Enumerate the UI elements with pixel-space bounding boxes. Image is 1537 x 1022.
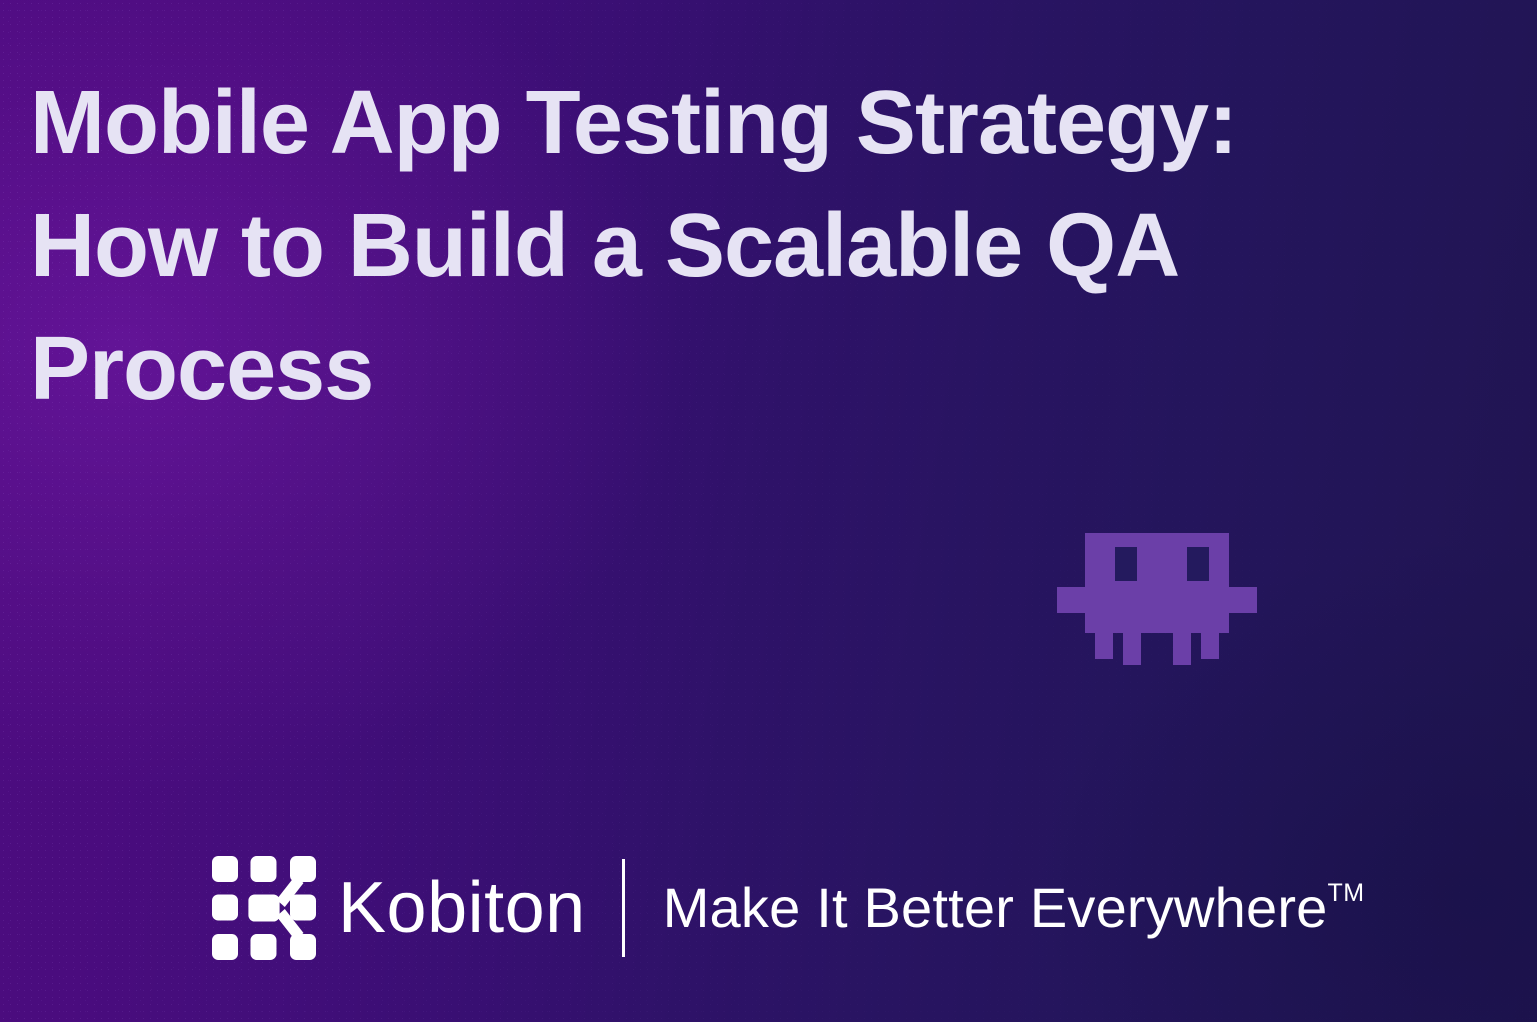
kobiton-grid-logo-icon (212, 856, 316, 960)
trademark-symbol: TM (1328, 879, 1365, 907)
tagline-text: Make It Better Everywhere (663, 876, 1328, 939)
promo-banner: Mobile App Testing Strategy: How to Buil… (0, 0, 1537, 1022)
kobiton-wordmark: Kobiton (338, 872, 586, 944)
brand-lockup: Kobiton Make It Better EverywhereTM (212, 852, 1365, 964)
brand-tagline: Make It Better EverywhereTM (663, 880, 1365, 936)
lockup-divider (622, 859, 625, 957)
page-title: Mobile App Testing Strategy: How to Buil… (30, 62, 1320, 431)
pixel-creature-icon (1057, 533, 1257, 665)
